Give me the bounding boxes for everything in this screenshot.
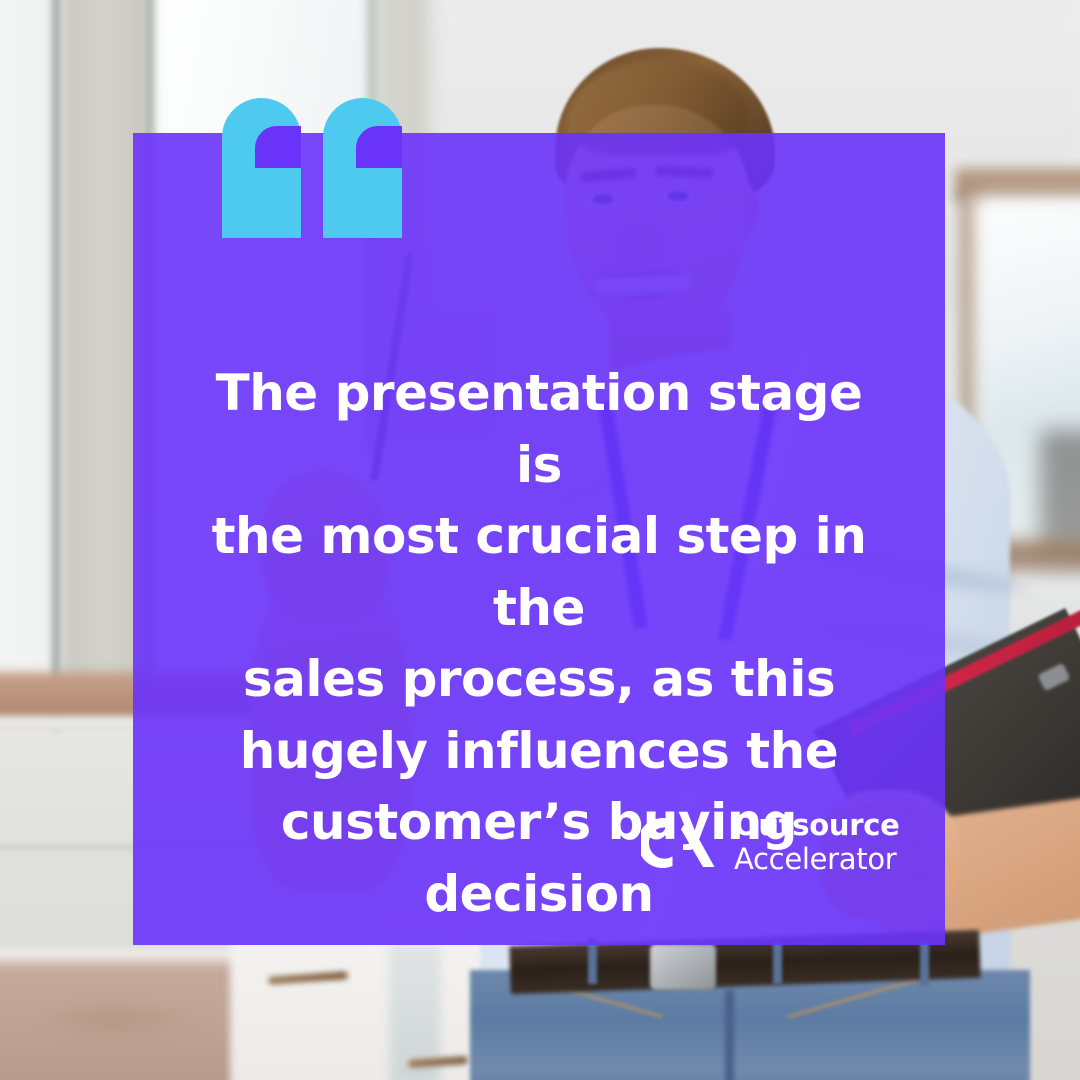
window-mullion-1	[52, 0, 61, 740]
belt-loop-3	[920, 940, 929, 986]
jeans-fly	[725, 990, 734, 1080]
quote-glyph-left-counter	[255, 126, 301, 168]
belt-buckle	[650, 944, 716, 990]
quote-glyph-right	[323, 98, 402, 238]
quote-card-canvas: The presentation stage is the most cruci…	[0, 0, 1080, 1080]
floor-highlight	[30, 1000, 200, 1040]
quote-glyph-left	[222, 98, 301, 238]
logo-line-outsource: Outsource	[734, 811, 899, 840]
brand-logo: Outsource Accelerator	[641, 811, 899, 874]
quote-panel-content: The presentation stage is the most cruci…	[133, 133, 945, 945]
quote-glyph-right-counter	[356, 126, 402, 168]
logo-line-accelerator: Accelerator	[734, 845, 899, 874]
outsource-accelerator-monogram-icon	[641, 812, 717, 874]
logo-wordmark: Outsource Accelerator	[734, 811, 899, 874]
quotation-mark-icon	[222, 98, 402, 238]
